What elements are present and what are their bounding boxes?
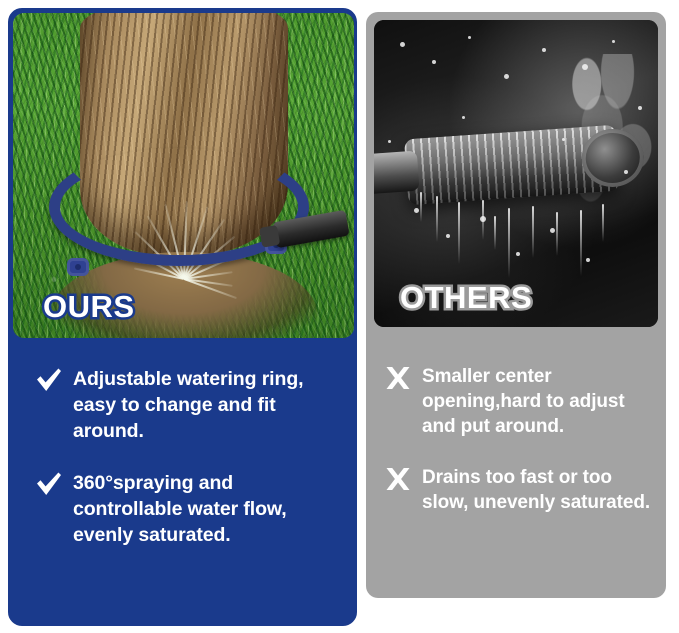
others-card: OTHERS Smaller center opening,hard to ad… [366,12,666,598]
check-icon [35,367,63,393]
ours-card: OURS Adjustable watering ring, easy to c… [8,8,357,626]
comparison-infographic: OURS Adjustable watering ring, easy to c… [0,0,679,633]
x-icon [384,365,412,391]
list-item-label: Adjustable watering ring, easy to change… [73,366,332,444]
x-icon [384,466,412,492]
list-item: Drains too fast or too slow, unevenly sa… [384,465,652,515]
list-item-label: 360°spraying and controllable water flow… [73,470,332,548]
hose-node-left [67,258,89,276]
ours-bullet-list: Adjustable watering ring, easy to change… [11,366,354,574]
list-item-label: Smaller center opening,hard to adjust an… [422,364,652,439]
list-item: 360°spraying and controllable water flow… [35,470,332,548]
others-photo: OTHERS [374,20,658,327]
others-bullet-list: Smaller center opening,hard to adjust an… [366,364,666,541]
others-label: OTHERS [400,282,532,313]
ours-label: OURS [43,291,135,322]
list-item: Adjustable watering ring, easy to change… [35,366,332,444]
list-item: Smaller center opening,hard to adjust an… [384,364,652,439]
list-item-label: Drains too fast or too slow, unevenly sa… [422,465,652,515]
check-icon [35,471,63,497]
ours-photo: OURS [13,13,354,338]
nozzle-tail [374,151,420,196]
